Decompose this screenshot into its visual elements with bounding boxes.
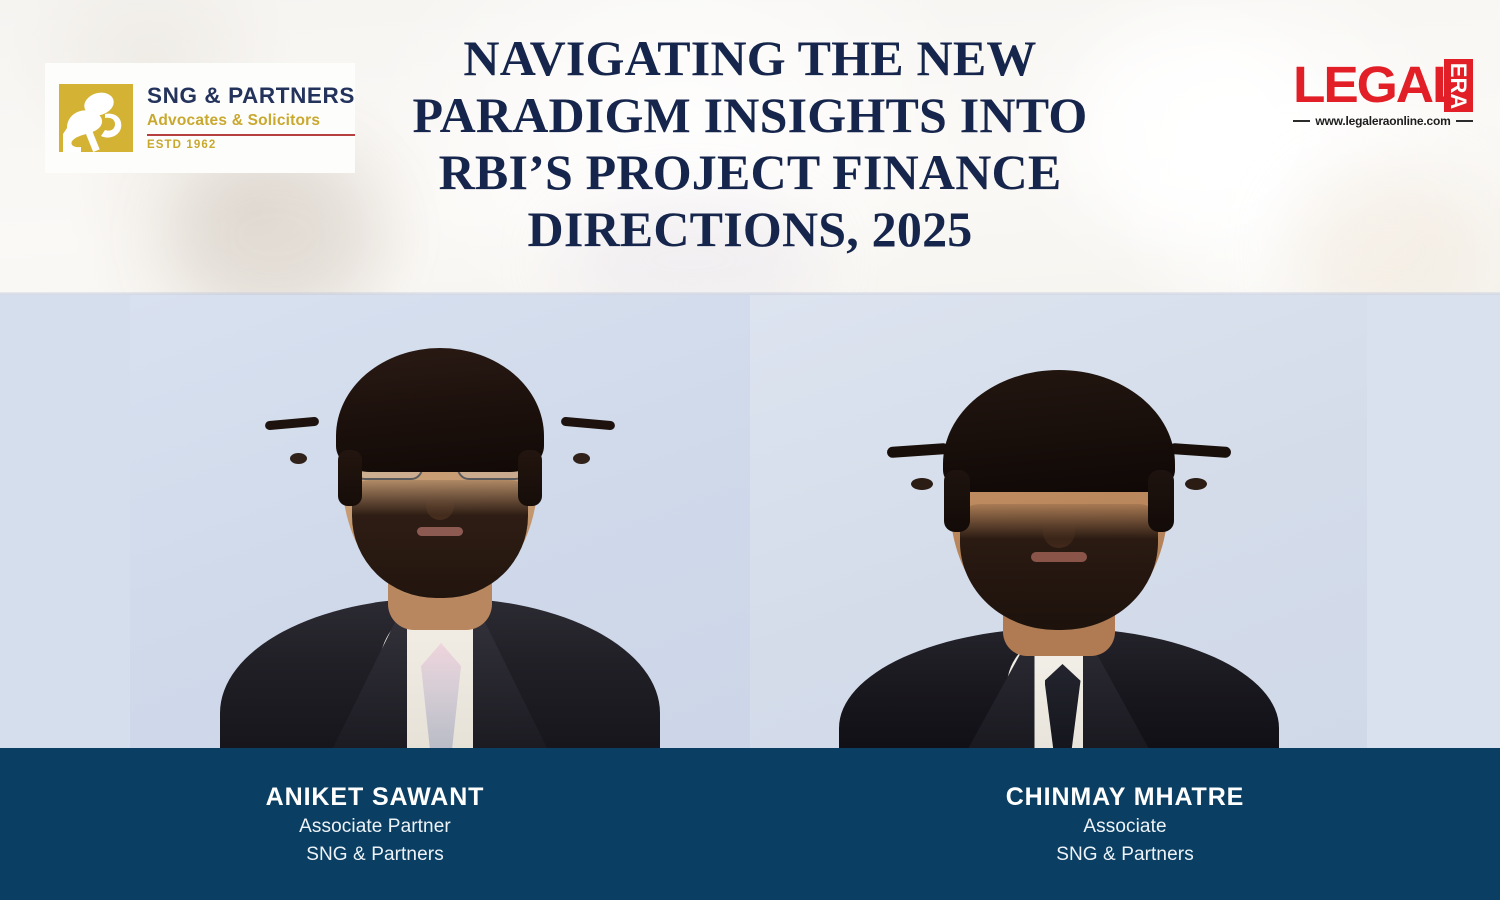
legal-era-logo[interactable]: LEGAL ERA www.legaleraonline.com — [1293, 60, 1473, 135]
portrait-eye-right — [1185, 478, 1207, 490]
legal-era-word: LEGAL — [1293, 60, 1462, 110]
article-title: NAVIGATING THE NEW PARADIGM INSIGHTS INT… — [380, 30, 1120, 258]
portrait-eye-left — [290, 453, 307, 464]
legal-era-rule-right — [1456, 120, 1473, 122]
sng-monogram-icon — [59, 84, 133, 152]
portrait-nose — [1043, 504, 1075, 548]
portrait-nose — [426, 480, 454, 520]
legal-era-wordmark: LEGAL ERA — [1293, 60, 1473, 112]
legal-era-badge-text: ERA — [1446, 62, 1472, 108]
article-banner: SNG & PARTNERS Advocates & Solicitors ES… — [0, 0, 1500, 900]
header-bokeh-blob — [1290, 170, 1490, 295]
portrait-strip-right-fill — [1367, 295, 1500, 748]
legal-era-rule-left — [1293, 120, 1310, 122]
portrait-eyebrow-left — [886, 443, 949, 458]
credit-block-chinmay-mhatre: CHINMAY MHATRE Associate SNG & Partners — [750, 748, 1500, 900]
portrait-photo-chinmay-mhatre — [750, 295, 1367, 748]
portrait-strip — [0, 295, 1500, 748]
credit-role: Associate — [1083, 814, 1166, 841]
sng-logo-established: ESTD 1962 — [147, 139, 355, 152]
credits-bar: ANIKET SAWANT Associate Partner SNG & Pa… — [0, 748, 1500, 900]
legal-era-url: www.legaleraonline.com — [1315, 114, 1450, 128]
legal-era-badge: ERA — [1444, 59, 1473, 112]
portrait-mouth — [1031, 552, 1087, 562]
portrait-photo-aniket-sawant — [130, 295, 750, 748]
credit-block-aniket-sawant: ANIKET SAWANT Associate Partner SNG & Pa… — [0, 748, 750, 900]
portrait-hair — [943, 370, 1175, 492]
sng-partners-logo[interactable]: SNG & PARTNERS Advocates & Solicitors ES… — [45, 63, 355, 173]
credit-firm: SNG & Partners — [1056, 842, 1194, 869]
portrait-eye-left — [911, 478, 933, 490]
portrait-eyebrow-left — [265, 417, 320, 431]
sng-logo-text: SNG & PARTNERS Advocates & Solicitors ES… — [147, 84, 355, 151]
credit-role: Associate Partner — [299, 814, 451, 841]
portrait-eyebrow-right — [1168, 443, 1231, 458]
sng-logo-divider — [147, 134, 355, 136]
portrait-eyebrow-right — [561, 417, 616, 431]
credit-name: ANIKET SAWANT — [266, 784, 485, 812]
credit-name: CHINMAY MHATRE — [1006, 784, 1245, 812]
banner-header: SNG & PARTNERS Advocates & Solicitors ES… — [0, 0, 1500, 295]
sng-logo-name: SNG & PARTNERS — [147, 84, 355, 108]
portrait-figure — [849, 308, 1269, 748]
portrait-eye-right — [573, 453, 590, 464]
portrait-strip-left-fill — [0, 295, 130, 748]
portrait-mouth — [417, 527, 463, 536]
credit-firm: SNG & Partners — [306, 842, 444, 869]
legal-era-url-row: www.legaleraonline.com — [1293, 114, 1473, 128]
portrait-hair — [336, 348, 544, 472]
sng-logo-tagline: Advocates & Solicitors — [147, 111, 355, 130]
portrait-figure — [225, 303, 655, 748]
